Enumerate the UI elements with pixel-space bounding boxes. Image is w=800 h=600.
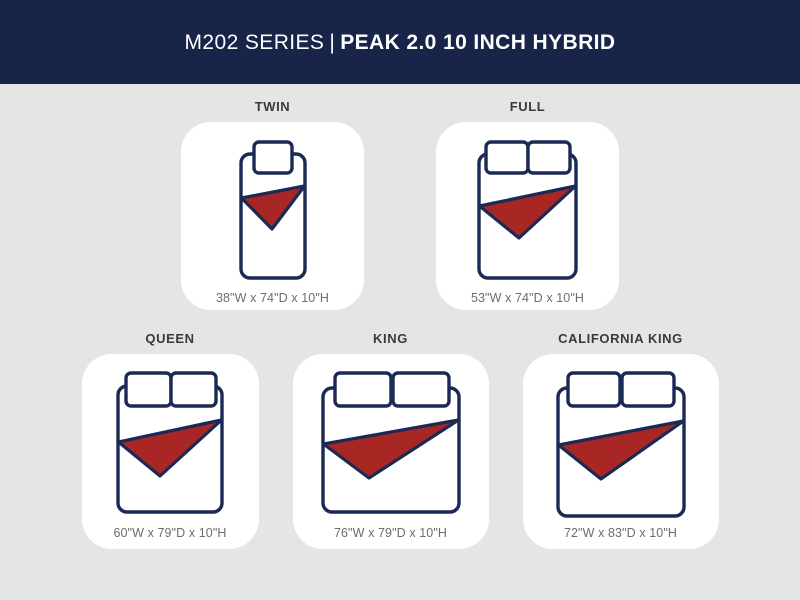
pillow-icon-right xyxy=(171,373,216,406)
bed-diagram-queen xyxy=(100,366,240,521)
header-bar: M202 SERIES|PEAK 2.0 10 INCH HYBRID xyxy=(0,0,800,84)
pillow-icon xyxy=(254,142,292,173)
pillow-icon-left xyxy=(568,373,620,406)
header-series-label: M202 SERIES xyxy=(185,31,325,54)
pillow-icon-right xyxy=(528,142,570,173)
size-dimensions-twin: 38"W x 74"D x 10"H xyxy=(216,292,329,305)
size-dimensions-king: 76"W x 79"D x 10"H xyxy=(334,527,447,540)
size-label-queen: QUEEN xyxy=(145,332,194,345)
pillow-icon-left xyxy=(486,142,528,173)
size-label-twin: TWIN xyxy=(255,100,291,113)
size-card-california-king[interactable]: 72"W x 83"D x 10"H xyxy=(523,354,719,549)
pillow-icon-left xyxy=(335,373,391,406)
size-row-top: TWIN 38"W x 74"D x 10"H FULL xyxy=(0,84,800,310)
bed-diagram-full xyxy=(461,136,594,286)
header-model-label: PEAK 2.0 10 INCH HYBRID xyxy=(340,31,615,54)
size-card-full[interactable]: 53"W x 74"D x 10"H xyxy=(436,122,619,310)
size-cell-king[interactable]: KING 76"W x 79"D x 10"H xyxy=(293,332,489,549)
size-label-california-king: CALIFORNIA KING xyxy=(558,332,683,345)
size-card-king[interactable]: 76"W x 79"D x 10"H xyxy=(293,354,489,549)
size-dimensions-queen: 60"W x 79"D x 10"H xyxy=(113,527,226,540)
pillow-icon-left xyxy=(126,373,171,406)
pillow-icon-right xyxy=(622,373,674,406)
size-dimensions-california-king: 72"W x 83"D x 10"H xyxy=(564,527,677,540)
mattress-size-chart-page: M202 SERIES|PEAK 2.0 10 INCH HYBRID TWIN xyxy=(0,0,800,600)
size-cell-california-king[interactable]: CALIFORNIA KING 72"W x 83"D x 10"H xyxy=(523,332,719,549)
pillow-icon-right xyxy=(393,373,449,406)
bed-diagram-king xyxy=(311,366,471,521)
size-label-king: KING xyxy=(373,332,408,345)
size-card-twin[interactable]: 38"W x 74"D x 10"H xyxy=(181,122,364,310)
header-divider: | xyxy=(329,31,335,54)
bed-diagram-california-king xyxy=(541,366,701,521)
size-cell-twin[interactable]: TWIN 38"W x 74"D x 10"H xyxy=(181,100,364,310)
page-title: M202 SERIES|PEAK 2.0 10 INCH HYBRID xyxy=(185,32,616,53)
size-label-full: FULL xyxy=(510,100,546,113)
size-card-queen[interactable]: 60"W x 79"D x 10"H xyxy=(82,354,259,549)
size-cell-full[interactable]: FULL 53"W x 74"D x 10"H xyxy=(436,100,619,310)
size-dimensions-full: 53"W x 74"D x 10"H xyxy=(471,292,584,305)
size-cell-queen[interactable]: QUEEN 60"W x 79"D x 10"H xyxy=(82,332,259,549)
size-chart-area: TWIN 38"W x 74"D x 10"H FULL xyxy=(0,84,800,600)
size-row-bottom: QUEEN 60"W x 79"D x 10"H KING xyxy=(0,310,800,549)
bed-diagram-twin xyxy=(223,136,323,286)
